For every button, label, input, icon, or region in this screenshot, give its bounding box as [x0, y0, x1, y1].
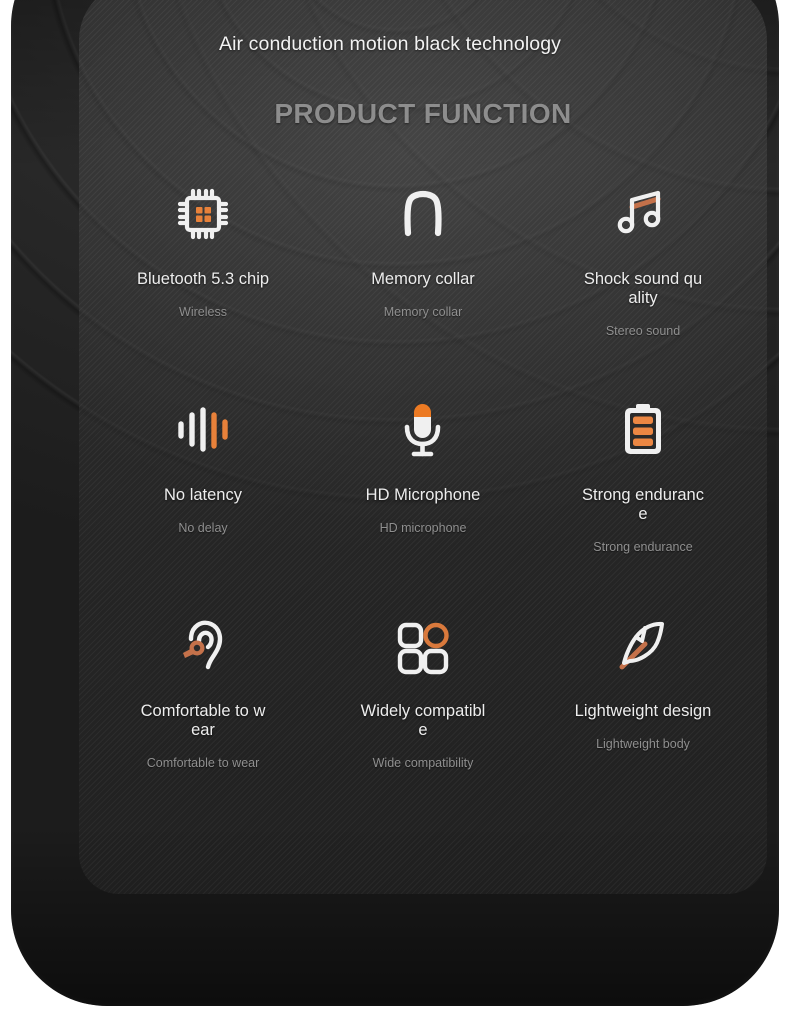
grid-squares-icon [392, 600, 454, 692]
feature-title: No latency [164, 486, 242, 505]
feature-subtitle: Stereo sound [606, 324, 680, 339]
feature-item-lightweight-design: Lightweight design Lightweight body [533, 600, 753, 816]
ear-earbud-icon [172, 600, 234, 692]
feature-subtitle: Wireless [179, 305, 227, 320]
neckband-icon [392, 168, 454, 260]
feature-title: Comfortable to wear [140, 702, 266, 740]
feature-subtitle: HD microphone [380, 521, 467, 536]
chip-icon [172, 168, 234, 260]
feature-title: HD Microphone [366, 486, 481, 505]
feature-subtitle: Lightweight body [596, 737, 690, 752]
feature-item-shock-sound-quality: Shock sound quality Stereo sound [533, 168, 753, 384]
feature-title: Memory collar [371, 270, 475, 289]
feature-item-bluetooth-chip: Bluetooth 5.3 chip Wireless [93, 168, 313, 384]
feature-subtitle: Memory collar [384, 305, 463, 320]
feature-title: Bluetooth 5.3 chip [137, 270, 269, 289]
page-headline: Air conduction motion black technology [219, 34, 585, 54]
feature-title: Lightweight design [575, 702, 712, 721]
feature-item-no-latency: No latency No delay [93, 384, 313, 600]
feature-item-memory-collar: Memory collar Memory collar [313, 168, 533, 384]
microphone-icon [392, 384, 454, 476]
feature-item-hd-microphone: HD Microphone HD microphone [313, 384, 533, 600]
feature-subtitle: No delay [178, 521, 227, 536]
feature-subtitle: Wide compatibility [373, 756, 474, 771]
feature-title: Strong endurance [580, 486, 706, 524]
feature-grid: Bluetooth 5.3 chip Wireless Memory colla… [93, 168, 753, 816]
product-body-shell: Air conduction motion black technology P… [11, 0, 779, 1006]
feature-subtitle: Comfortable to wear [147, 756, 260, 771]
feature-item-strong-endurance: Strong endurance Strong endurance [533, 384, 753, 600]
battery-icon [612, 384, 674, 476]
feature-title: Widely compatible [360, 702, 486, 740]
feature-item-widely-compatible: Widely compatible Wide compatibility [313, 600, 533, 816]
feature-subtitle: Strong endurance [593, 540, 692, 555]
section-title: PRODUCT FUNCTION [79, 98, 767, 130]
waveform-icon [172, 384, 234, 476]
music-note-icon [612, 168, 674, 260]
feather-icon [612, 600, 674, 692]
feature-item-comfortable-to-wear: Comfortable to wear Comfortable to wear [93, 600, 313, 816]
feature-title: Shock sound quality [580, 270, 706, 308]
feature-panel: Air conduction motion black technology P… [79, 0, 767, 894]
